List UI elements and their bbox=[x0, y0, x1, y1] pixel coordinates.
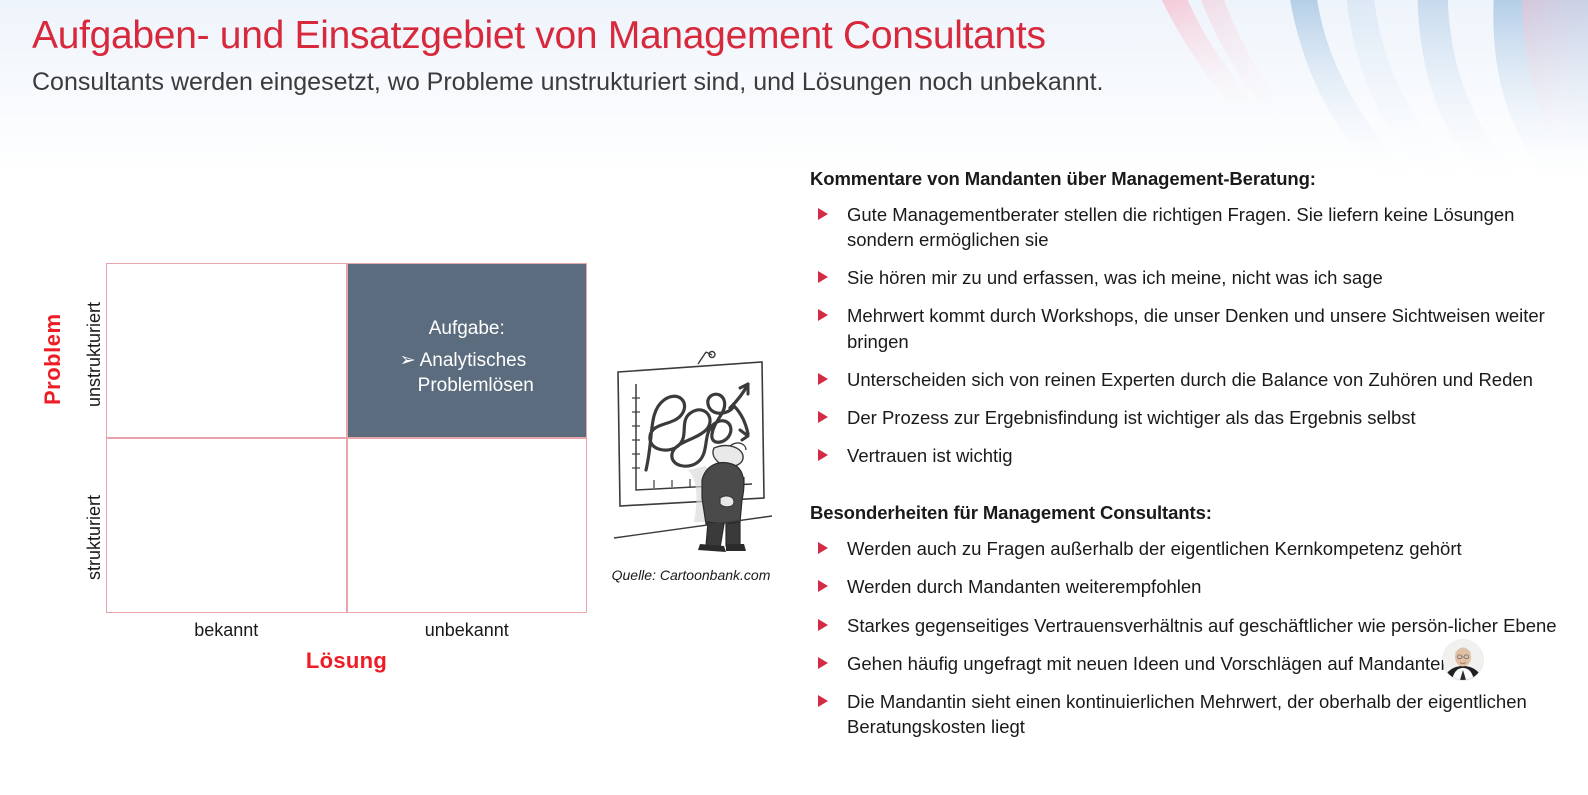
cartoon-illustration-icon bbox=[602, 350, 780, 565]
highlight-cell-bullet-line1: Analytisches bbox=[420, 350, 527, 371]
matrix-grid: Aufgabe: ➢Analytisches Problemlösen bbox=[106, 263, 587, 613]
triangle-bullet-icon bbox=[818, 580, 828, 592]
y-axis-tick-strukturiert: strukturiert bbox=[84, 495, 105, 580]
matrix-cell-unstrukturiert-bekannt[interactable] bbox=[107, 264, 347, 438]
highlight-cell-bullet-line2: Problemlösen bbox=[400, 375, 534, 396]
ribbon-decoration-icon bbox=[1118, 0, 1588, 190]
list-item: Sie hören mir zu und erfassen, was ich m… bbox=[810, 265, 1562, 290]
triangle-bullet-icon bbox=[818, 695, 828, 707]
list-item: Mehrwert kommt durch Workshops, die unse… bbox=[810, 303, 1562, 353]
y-axis-title: Problem bbox=[40, 313, 66, 405]
list-item-label: Unterscheiden sich von reinen Experten d… bbox=[847, 369, 1533, 390]
page-title: Aufgaben- und Einsatzgebiet von Manageme… bbox=[32, 14, 1104, 59]
list-item-label: Werden durch Mandanten weiterempfohlen bbox=[847, 576, 1201, 597]
triangle-bullet-icon bbox=[818, 411, 828, 423]
triangle-bullet-icon bbox=[818, 208, 828, 220]
x-axis-ticks: bekannt unbekannt bbox=[106, 620, 587, 641]
list-item: Unterscheiden sich von reinen Experten d… bbox=[810, 367, 1562, 392]
arrow-bullet-icon: ➢ bbox=[400, 350, 416, 371]
triangle-bullet-icon bbox=[818, 271, 828, 283]
matrix-cell-strukturiert-unbekannt[interactable] bbox=[347, 438, 587, 612]
specifics-list: Werden auch zu Fragen außerhalb der eige… bbox=[810, 536, 1562, 739]
list-item: Starkes gegenseitiges Vertrauensverhältn… bbox=[810, 613, 1562, 638]
list-item-label: Gehen häufig ungefragt mit neuen Ideen u… bbox=[847, 653, 1475, 674]
list-item-label: Gute Managementberater stellen die richt… bbox=[847, 204, 1514, 250]
triangle-bullet-icon bbox=[818, 449, 828, 461]
highlight-cell-heading: Aufgabe: bbox=[348, 316, 587, 342]
list-item: Die Mandantin sieht einen kontinuierlich… bbox=[810, 689, 1562, 739]
triangle-bullet-icon bbox=[818, 373, 828, 385]
list-item-label: Sie hören mir zu und erfassen, was ich m… bbox=[847, 267, 1383, 288]
list-item: Vertrauen ist wichtig bbox=[810, 443, 1562, 468]
matrix-cell-unstrukturiert-unbekannt[interactable]: Aufgabe: ➢Analytisches Problemlösen bbox=[347, 264, 587, 438]
list-item-label: Mehrwert kommt durch Workshops, die unse… bbox=[847, 305, 1545, 351]
person-photo-icon bbox=[1443, 640, 1483, 680]
x-axis-tick-unbekannt: unbekannt bbox=[347, 620, 588, 641]
cartoon-figure: Quelle: Cartoonbank.com bbox=[602, 350, 792, 583]
slide-header: Aufgaben- und Einsatzgebiet von Manageme… bbox=[32, 14, 1104, 97]
slide-canvas: Aufgaben- und Einsatzgebiet von Manageme… bbox=[0, 0, 1588, 795]
x-axis-title: Lösung bbox=[106, 648, 587, 674]
list-item: Gute Managementberater stellen die richt… bbox=[810, 202, 1562, 252]
list-item-label: Werden auch zu Fragen außerhalb der eige… bbox=[847, 538, 1462, 559]
x-axis-tick-bekannt: bekannt bbox=[106, 620, 347, 641]
problem-solution-matrix: Problem unstrukturiert strukturiert Aufg… bbox=[32, 255, 772, 685]
list-item: Der Prozess zur Ergebnisfindung ist wich… bbox=[810, 405, 1562, 430]
list-item-label: Die Mandantin sieht einen kontinuierlich… bbox=[847, 691, 1527, 737]
highlight-cell-bullet: ➢Analytisches Problemlösen bbox=[400, 348, 534, 399]
y-axis-tick-unstrukturiert: unstrukturiert bbox=[84, 302, 105, 407]
highlight-cell-content: Aufgabe: ➢Analytisches Problemlösen bbox=[348, 316, 587, 399]
list-item-label: Starkes gegenseitiges Vertrauensverhältn… bbox=[847, 615, 1557, 636]
page-subtitle: Consultants werden eingesetzt, wo Proble… bbox=[32, 68, 1104, 97]
specifics-section-heading: Besonderheiten für Management Consultant… bbox=[810, 502, 1562, 524]
list-item-label: Vertrauen ist wichtig bbox=[847, 445, 1013, 466]
cartoon-source-caption: Quelle: Cartoonbank.com bbox=[602, 567, 780, 583]
triangle-bullet-icon bbox=[818, 309, 828, 321]
comments-section-heading: Kommentare von Mandanten über Management… bbox=[810, 168, 1562, 190]
triangle-bullet-icon bbox=[818, 542, 828, 554]
list-item: Werden auch zu Fragen außerhalb der eige… bbox=[810, 536, 1562, 561]
comments-list: Gute Managementberater stellen die richt… bbox=[810, 202, 1562, 468]
triangle-bullet-icon bbox=[818, 657, 828, 669]
matrix-cell-strukturiert-bekannt[interactable] bbox=[107, 438, 347, 612]
triangle-bullet-icon bbox=[818, 619, 828, 631]
list-item-label: Der Prozess zur Ergebnisfindung ist wich… bbox=[847, 407, 1416, 428]
avatar bbox=[1443, 640, 1483, 680]
list-item: Werden durch Mandanten weiterempfohlen bbox=[810, 574, 1562, 599]
